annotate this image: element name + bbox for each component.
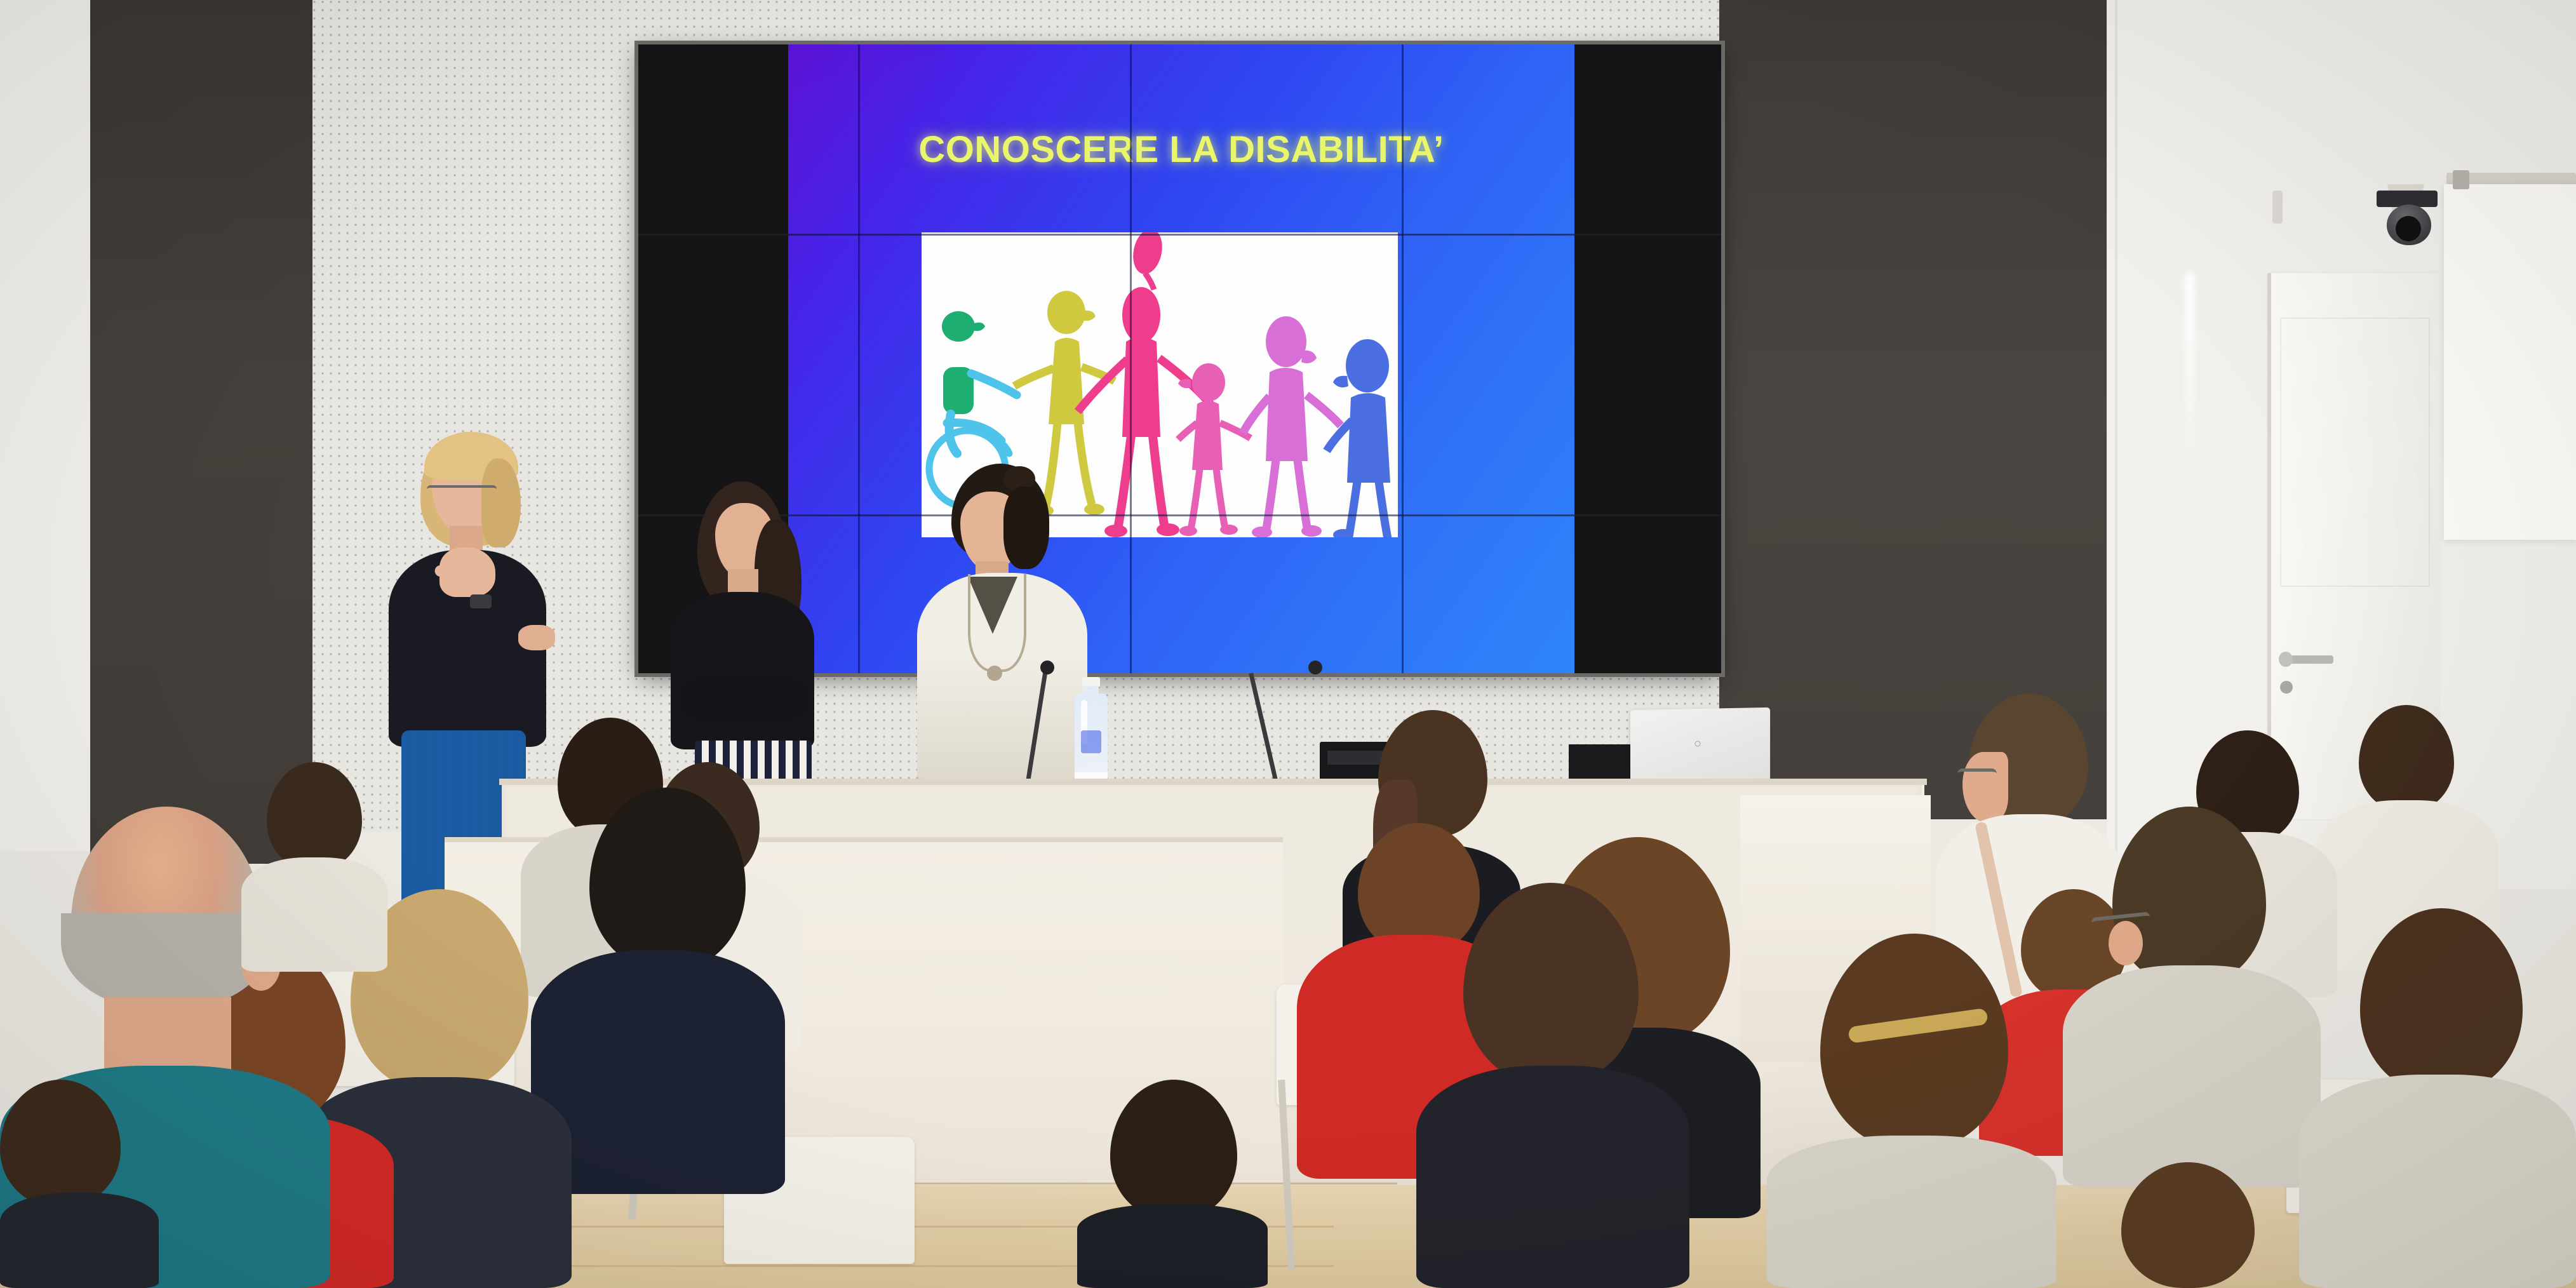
audience-glasses-man-right (2056, 807, 2323, 1188)
video-wall-bezel-v1 (858, 44, 860, 673)
standing-presenter-hair-side (481, 459, 521, 547)
seated-presenter-right-hair-side (1003, 486, 1049, 569)
head (267, 762, 362, 870)
head (1110, 1080, 1237, 1219)
audience-extra-right (2083, 1162, 2293, 1288)
body (1767, 1136, 2056, 1288)
video-wall-letterbox-right (1574, 44, 1721, 673)
slide-title: CONOSCERE LA DISABILITA’ (788, 128, 1574, 171)
head (0, 1080, 121, 1207)
body (1416, 1066, 1689, 1288)
microphone-head-left (1040, 661, 1054, 674)
door-handle-base (2279, 652, 2293, 667)
audience-extra-left (241, 762, 387, 972)
seated-presenter-middle-arms (678, 677, 809, 720)
face-profile (1962, 752, 2008, 823)
child-figure-pink (1178, 363, 1251, 536)
child-figure-blue (1327, 339, 1390, 537)
head (2121, 1162, 2255, 1288)
video-wall-bezel-v3 (1402, 44, 1404, 673)
glasses-icon (427, 485, 497, 500)
head (2360, 908, 2523, 1094)
bottle-blue-tint (1081, 730, 1101, 753)
head (2359, 705, 2454, 812)
door-lock[interactable] (2280, 681, 2293, 694)
video-wall-bezel-v2 (1130, 44, 1132, 673)
standing-presenter-hand-right (518, 625, 555, 650)
body (241, 857, 387, 972)
video-wall-bezel-left-h1 (638, 234, 788, 236)
audience-extra-center (1077, 1080, 1268, 1288)
ceiling-light-strip (2185, 273, 2195, 476)
pendant-necklace (968, 574, 1026, 672)
body (0, 1193, 159, 1288)
hair-fringe (61, 913, 271, 1009)
audience-corner-right (2299, 908, 2576, 1288)
video-wall-bezel-right-h2 (1574, 514, 1721, 516)
video-wall-bezel-h1 (788, 234, 1574, 236)
head (1463, 883, 1639, 1085)
audience-left-edge (0, 1080, 159, 1288)
flipchart-clip (2453, 170, 2469, 189)
audience-dark-center (1416, 883, 1689, 1288)
body (2063, 965, 2321, 1188)
wall-hook (2272, 191, 2283, 224)
wristwatch (470, 594, 492, 608)
body (1077, 1204, 1268, 1288)
laptop-brand-logo: ○ (1678, 737, 1717, 751)
conference-room-photo: CONOSCERE LA DISABILITA’ (0, 0, 2576, 1288)
audience-headband-front (1764, 934, 2056, 1288)
wall-panel-left-dark (90, 0, 312, 864)
pendant (987, 666, 1002, 681)
door-inset-panel (2280, 318, 2430, 587)
head (1820, 934, 2008, 1150)
glasses-icon (1957, 768, 1997, 784)
water-bottle: Lete (1072, 677, 1110, 794)
wall-left-white (0, 0, 90, 851)
dome-camera-lens (2396, 216, 2421, 241)
microphone-head-right (1308, 661, 1322, 674)
flipchart-sheet (2444, 184, 2576, 540)
head (589, 788, 746, 970)
video-wall-bezel-right-h1 (1574, 234, 1721, 236)
adult-figure-magenta (1243, 316, 1341, 537)
body (2299, 1075, 2576, 1288)
seated-presenter-right-shirt-shadow (917, 654, 1087, 782)
